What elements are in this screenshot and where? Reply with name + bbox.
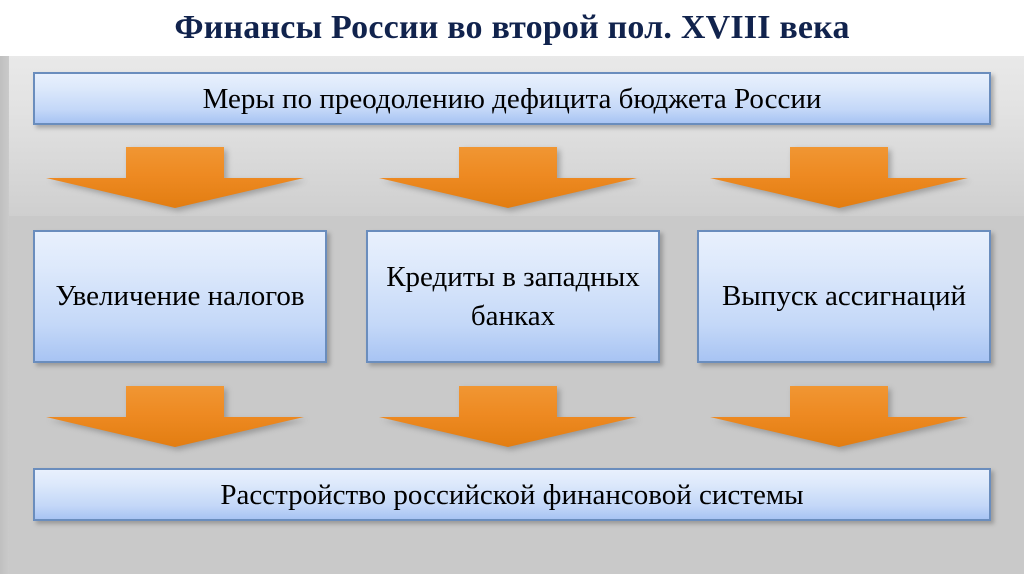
arrow-down-icon: [376, 147, 640, 209]
measure-box-2-label: Выпуск ассигнаций: [699, 277, 989, 316]
measure-box-1[interactable]: Кредиты в западных банках: [366, 230, 660, 363]
arrow-down-icon: [376, 386, 640, 448]
measure-box-0-label: Увеличение налогов: [35, 277, 325, 316]
header-box[interactable]: Меры по преодолению дефицита бюджета Рос…: [33, 72, 991, 125]
result-box-label: Расстройство российской финансовой систе…: [35, 478, 989, 512]
arrow-down-icon: [707, 147, 971, 209]
background-left-edge: [0, 56, 9, 574]
arrow-down-icon: [43, 147, 307, 209]
page-title: Финансы России во второй пол. XVIII века: [0, 6, 1024, 50]
measure-box-0[interactable]: Увеличение налогов: [33, 230, 327, 363]
slide-root: Финансы России во второй пол. XVIII века…: [0, 0, 1024, 574]
arrow-down-icon: [707, 386, 971, 448]
measure-box-2[interactable]: Выпуск ассигнаций: [697, 230, 991, 363]
arrow-down-icon: [43, 386, 307, 448]
header-box-label: Меры по преодолению дефицита бюджета Рос…: [35, 82, 989, 116]
result-box[interactable]: Расстройство российской финансовой систе…: [33, 468, 991, 521]
measure-box-1-label: Кредиты в западных банках: [368, 258, 658, 336]
